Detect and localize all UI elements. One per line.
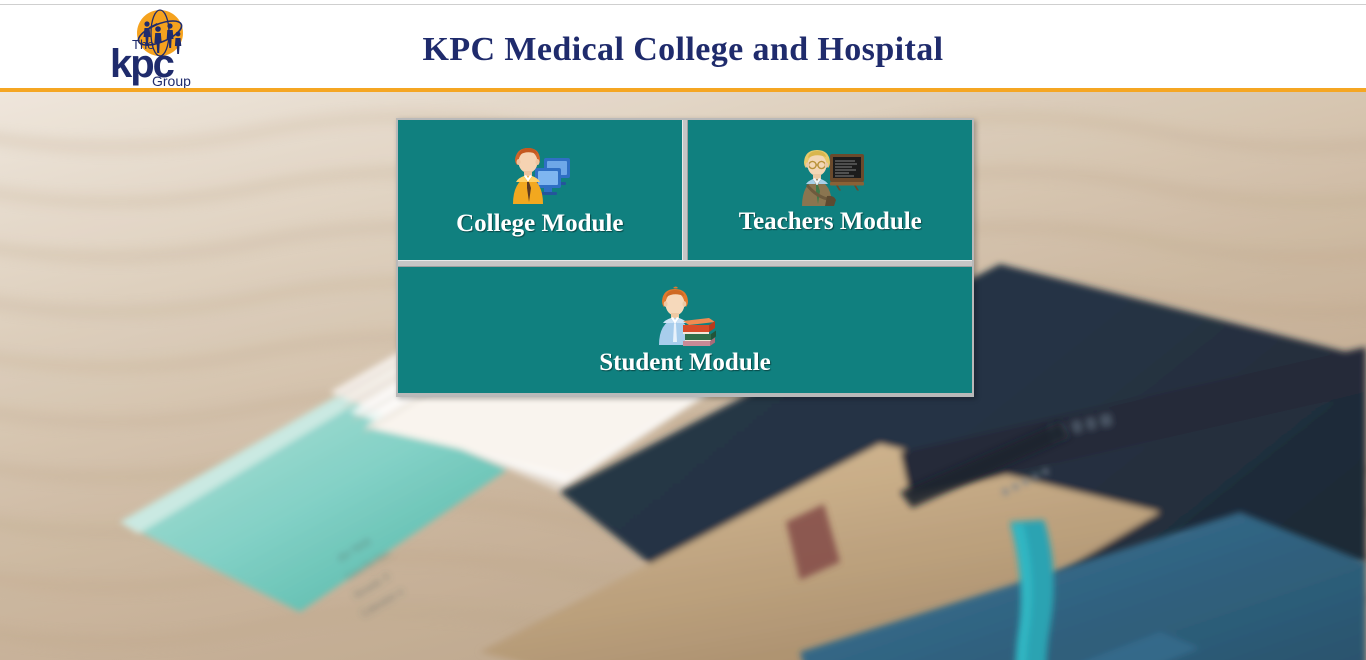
site-header: The kpc Group KPC Medical College and Ho… (0, 5, 1366, 88)
student-with-books-icon (649, 283, 721, 347)
module-label-student: Student Module (599, 349, 771, 377)
module-panel: College Module (396, 118, 974, 397)
module-label-college: College Module (456, 210, 623, 238)
module-column-divider (682, 120, 689, 260)
module-row-top: College Module (398, 120, 972, 260)
user-with-computers-icon (504, 142, 576, 206)
module-tile-teachers[interactable]: Teachers Module (688, 120, 972, 260)
svg-text:Group: Group (152, 73, 191, 89)
module-tile-student[interactable]: Student Module (398, 267, 972, 393)
teacher-with-blackboard-icon (794, 144, 866, 208)
module-tile-college[interactable]: College Module (398, 120, 682, 260)
hero-section: der Welt Geschichte, Strand, S Literatur… (0, 92, 1366, 660)
module-row-bottom: Student Module (398, 267, 972, 393)
page-root: The kpc Group KPC Medical College and Ho… (0, 0, 1366, 660)
page-title: KPC Medical College and Hospital (0, 31, 1366, 69)
module-row-divider (398, 260, 972, 267)
module-label-teachers: Teachers Module (739, 208, 922, 236)
